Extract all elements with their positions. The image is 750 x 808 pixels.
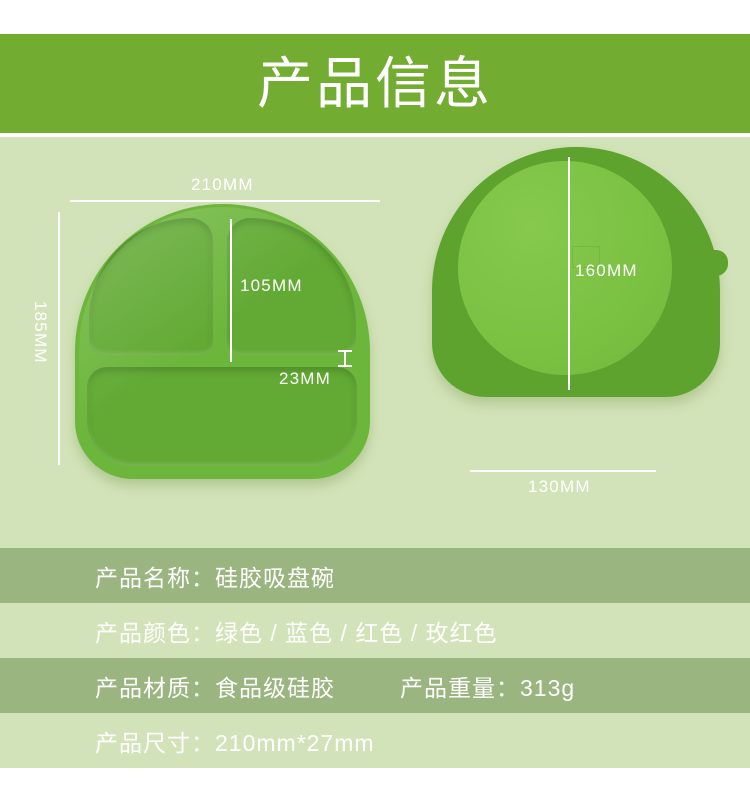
dimension-label-width-210: 210MM	[191, 175, 254, 195]
dimension-label-thickness-23: 23MM	[279, 369, 331, 389]
thickness-indicator-icon	[338, 350, 352, 367]
spec-row-material-weight: 产品材质：食品级硅胶 产品重量：313g	[0, 658, 750, 713]
dimension-line-base-130	[470, 470, 656, 472]
compartment-top-left	[89, 218, 213, 355]
page-title: 产品信息	[257, 56, 493, 112]
spec-row-product-color: 产品颜色：绿色 / 蓝色 / 红色 / 玫红色	[0, 603, 750, 658]
dimension-line-suction-160	[568, 157, 570, 390]
plate-body	[75, 204, 370, 479]
left-plate-graphic	[75, 204, 370, 479]
product-info-page: 产品信息 210MM 185MM 105MM 23MM	[0, 0, 750, 808]
suction-release-tab	[706, 250, 728, 276]
dimension-label-divider-105: 105MM	[240, 276, 303, 296]
spec-row-product-name: 产品名称：硅胶吸盘碗	[0, 548, 750, 603]
header-banner: 产品信息	[0, 34, 750, 133]
spec-product-size: 产品尺寸：210mm*27mm	[95, 724, 375, 758]
dimension-line-height-185	[58, 212, 60, 465]
page-footer-space	[0, 775, 750, 808]
dimension-label-height-185: 185MM	[30, 301, 50, 364]
spec-product-color: 产品颜色：绿色 / 蓝色 / 红色 / 玫红色	[95, 614, 498, 648]
spec-row-product-size: 产品尺寸：210mm*27mm	[0, 713, 750, 768]
dimension-line-width-210	[70, 200, 380, 202]
spec-product-weight: 产品重量：313g	[400, 669, 575, 703]
spec-product-material: 产品材质：食品级硅胶	[95, 669, 335, 703]
suction-disc	[458, 161, 672, 375]
dimension-line-divider-105	[230, 219, 232, 362]
specification-table: 产品名称：硅胶吸盘碗 产品颜色：绿色 / 蓝色 / 红色 / 玫红色 产品材质：…	[0, 548, 750, 768]
product-illustration-area: 210MM 185MM 105MM 23MM 160MM	[0, 137, 750, 548]
spec-product-name: 产品名称：硅胶吸盘碗	[95, 559, 335, 593]
dimension-label-base-130: 130MM	[528, 477, 591, 497]
dimension-label-suction-160: 160MM	[575, 261, 638, 281]
